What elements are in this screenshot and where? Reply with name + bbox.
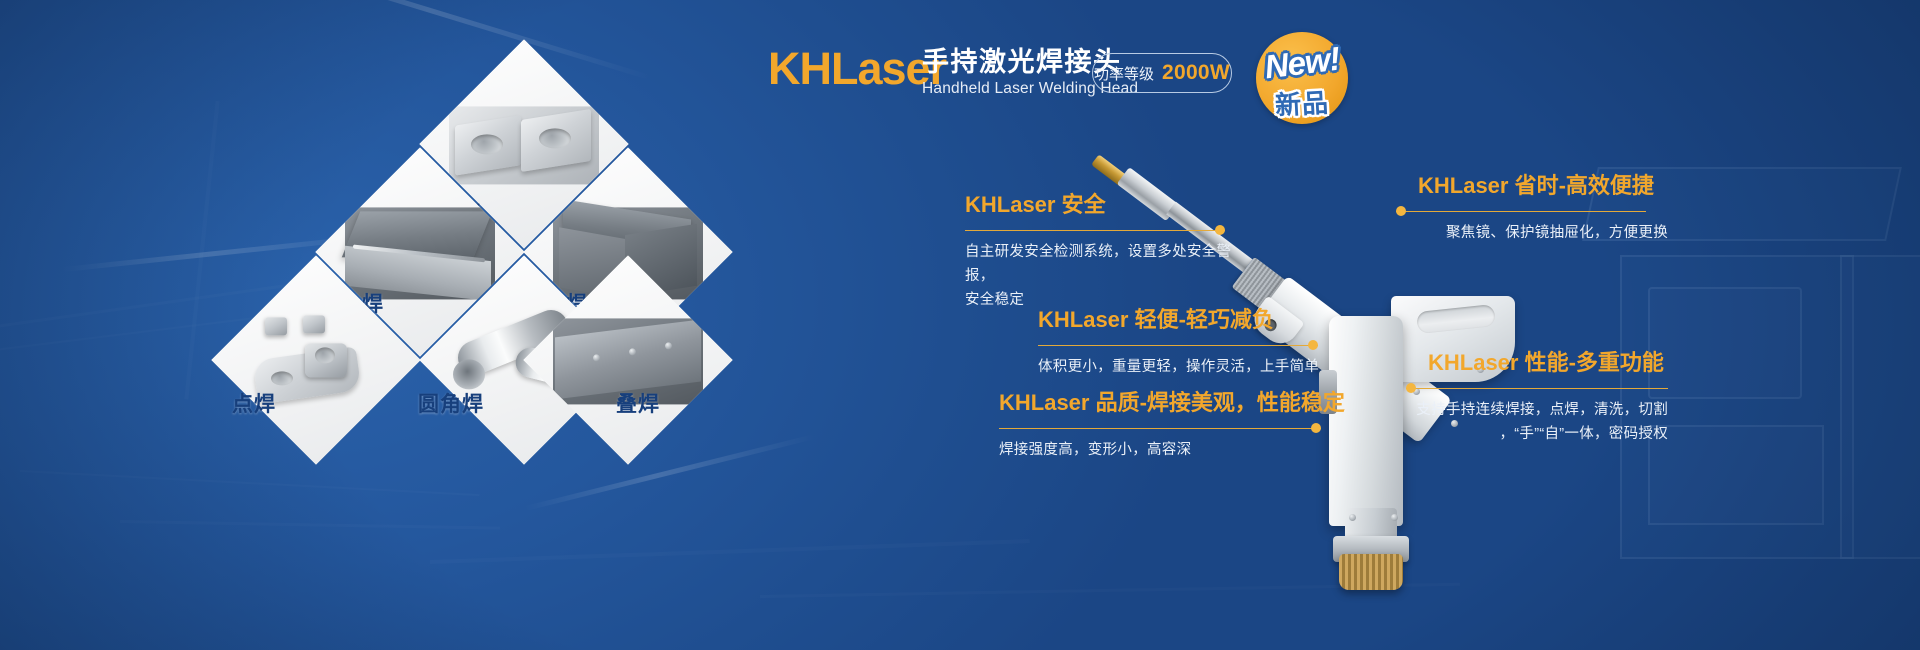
feature-safety-title: KHLaser 安全	[965, 192, 1225, 218]
feature-safety-rule	[965, 225, 1225, 235]
feature-safety-desc-line1: 自主研发安全检测系统，设置多处安全警报，	[965, 241, 1237, 289]
feature-quality-desc: 焊接强度高，变形小，高容深	[999, 439, 1329, 463]
feature-time-saving-title: KHLaser 省时-高效便捷	[1418, 173, 1708, 199]
feature-performance-desc: 支持手持连续焊接，点焊，清洗，切割 ，“手”“自”一体，密码授权	[1406, 399, 1668, 447]
power-rating-badge: 功率等级 2000W	[1092, 53, 1232, 93]
feature-time-saving-desc: 聚焦镜、保护镜抽屉化，方便更换	[1418, 222, 1668, 246]
feature-performance-rule	[1406, 383, 1668, 393]
feature-quality-desc-line1: 焊接强度高，变形小，高容深	[999, 439, 1329, 463]
feature-safety-desc: 自主研发安全检测系统，设置多处安全警报， 安全稳定	[965, 241, 1237, 313]
new-product-badge: New! 新品	[1256, 32, 1348, 124]
feature-performance-desc-line2: ，“手”“自”一体，密码授权	[1406, 423, 1668, 447]
handle-grip	[1329, 316, 1403, 526]
weld-type-label-4: 圆角焊	[418, 388, 484, 418]
feature-lightweight-title: KHLaser 轻便-轻巧减负	[1038, 307, 1318, 333]
feature-performance-desc-line1: 支持手持连续焊接，点焊，清洗，切割	[1406, 399, 1668, 423]
feature-performance-title: KHLaser 性能-多重功能	[1428, 350, 1708, 376]
feature-lightweight: KHLaser 轻便-轻巧减负 体积更小，重量更轻，操作灵活，上手简单	[1038, 307, 1318, 380]
feature-quality: KHLaser 品质-焊接美观，性能稳定 焊接强度高，变形小，高容深	[999, 390, 1321, 463]
power-rating-value: 2000W	[1162, 61, 1230, 85]
brand-logo: KHLaser	[768, 46, 946, 91]
power-rating-label: 功率等级	[1094, 63, 1154, 84]
feature-lightweight-rule	[1038, 340, 1318, 350]
cable-gland	[1339, 554, 1403, 590]
weld-type-label-3: 点焊	[232, 388, 276, 418]
weld-type-mosaic: 对接焊 阴角焊 阳角焊	[150, 30, 770, 610]
weld-type-label-5: 叠焊	[616, 388, 660, 418]
new-badge-text-cn: 新品	[1250, 81, 1354, 123]
product-banner: 对接焊 阴角焊 阳角焊	[0, 0, 1920, 650]
feature-time-saving-rule	[1396, 206, 1646, 216]
feature-lightweight-desc: 体积更小，重量更轻，操作灵活，上手简单	[1038, 356, 1328, 380]
feature-time-saving-desc-line1: 聚焦镜、保护镜抽屉化，方便更换	[1418, 222, 1668, 246]
feature-performance: KHLaser 性能-多重功能 支持手持连续焊接，点焊，清洗，切割 ，“手”“自…	[1428, 350, 1708, 447]
feature-lightweight-desc-line1: 体积更小，重量更轻，操作灵活，上手简单	[1038, 356, 1328, 380]
feature-time-saving: KHLaser 省时-高效便捷 聚焦镜、保护镜抽屉化，方便更换	[1418, 173, 1708, 246]
feature-safety: KHLaser 安全 自主研发安全检测系统，设置多处安全警报， 安全稳定	[965, 192, 1225, 313]
feature-quality-title: KHLaser 品质-焊接美观，性能稳定	[999, 390, 1321, 416]
feature-quality-rule	[999, 423, 1321, 433]
screw-5	[1391, 514, 1398, 521]
screw-4	[1349, 514, 1356, 521]
